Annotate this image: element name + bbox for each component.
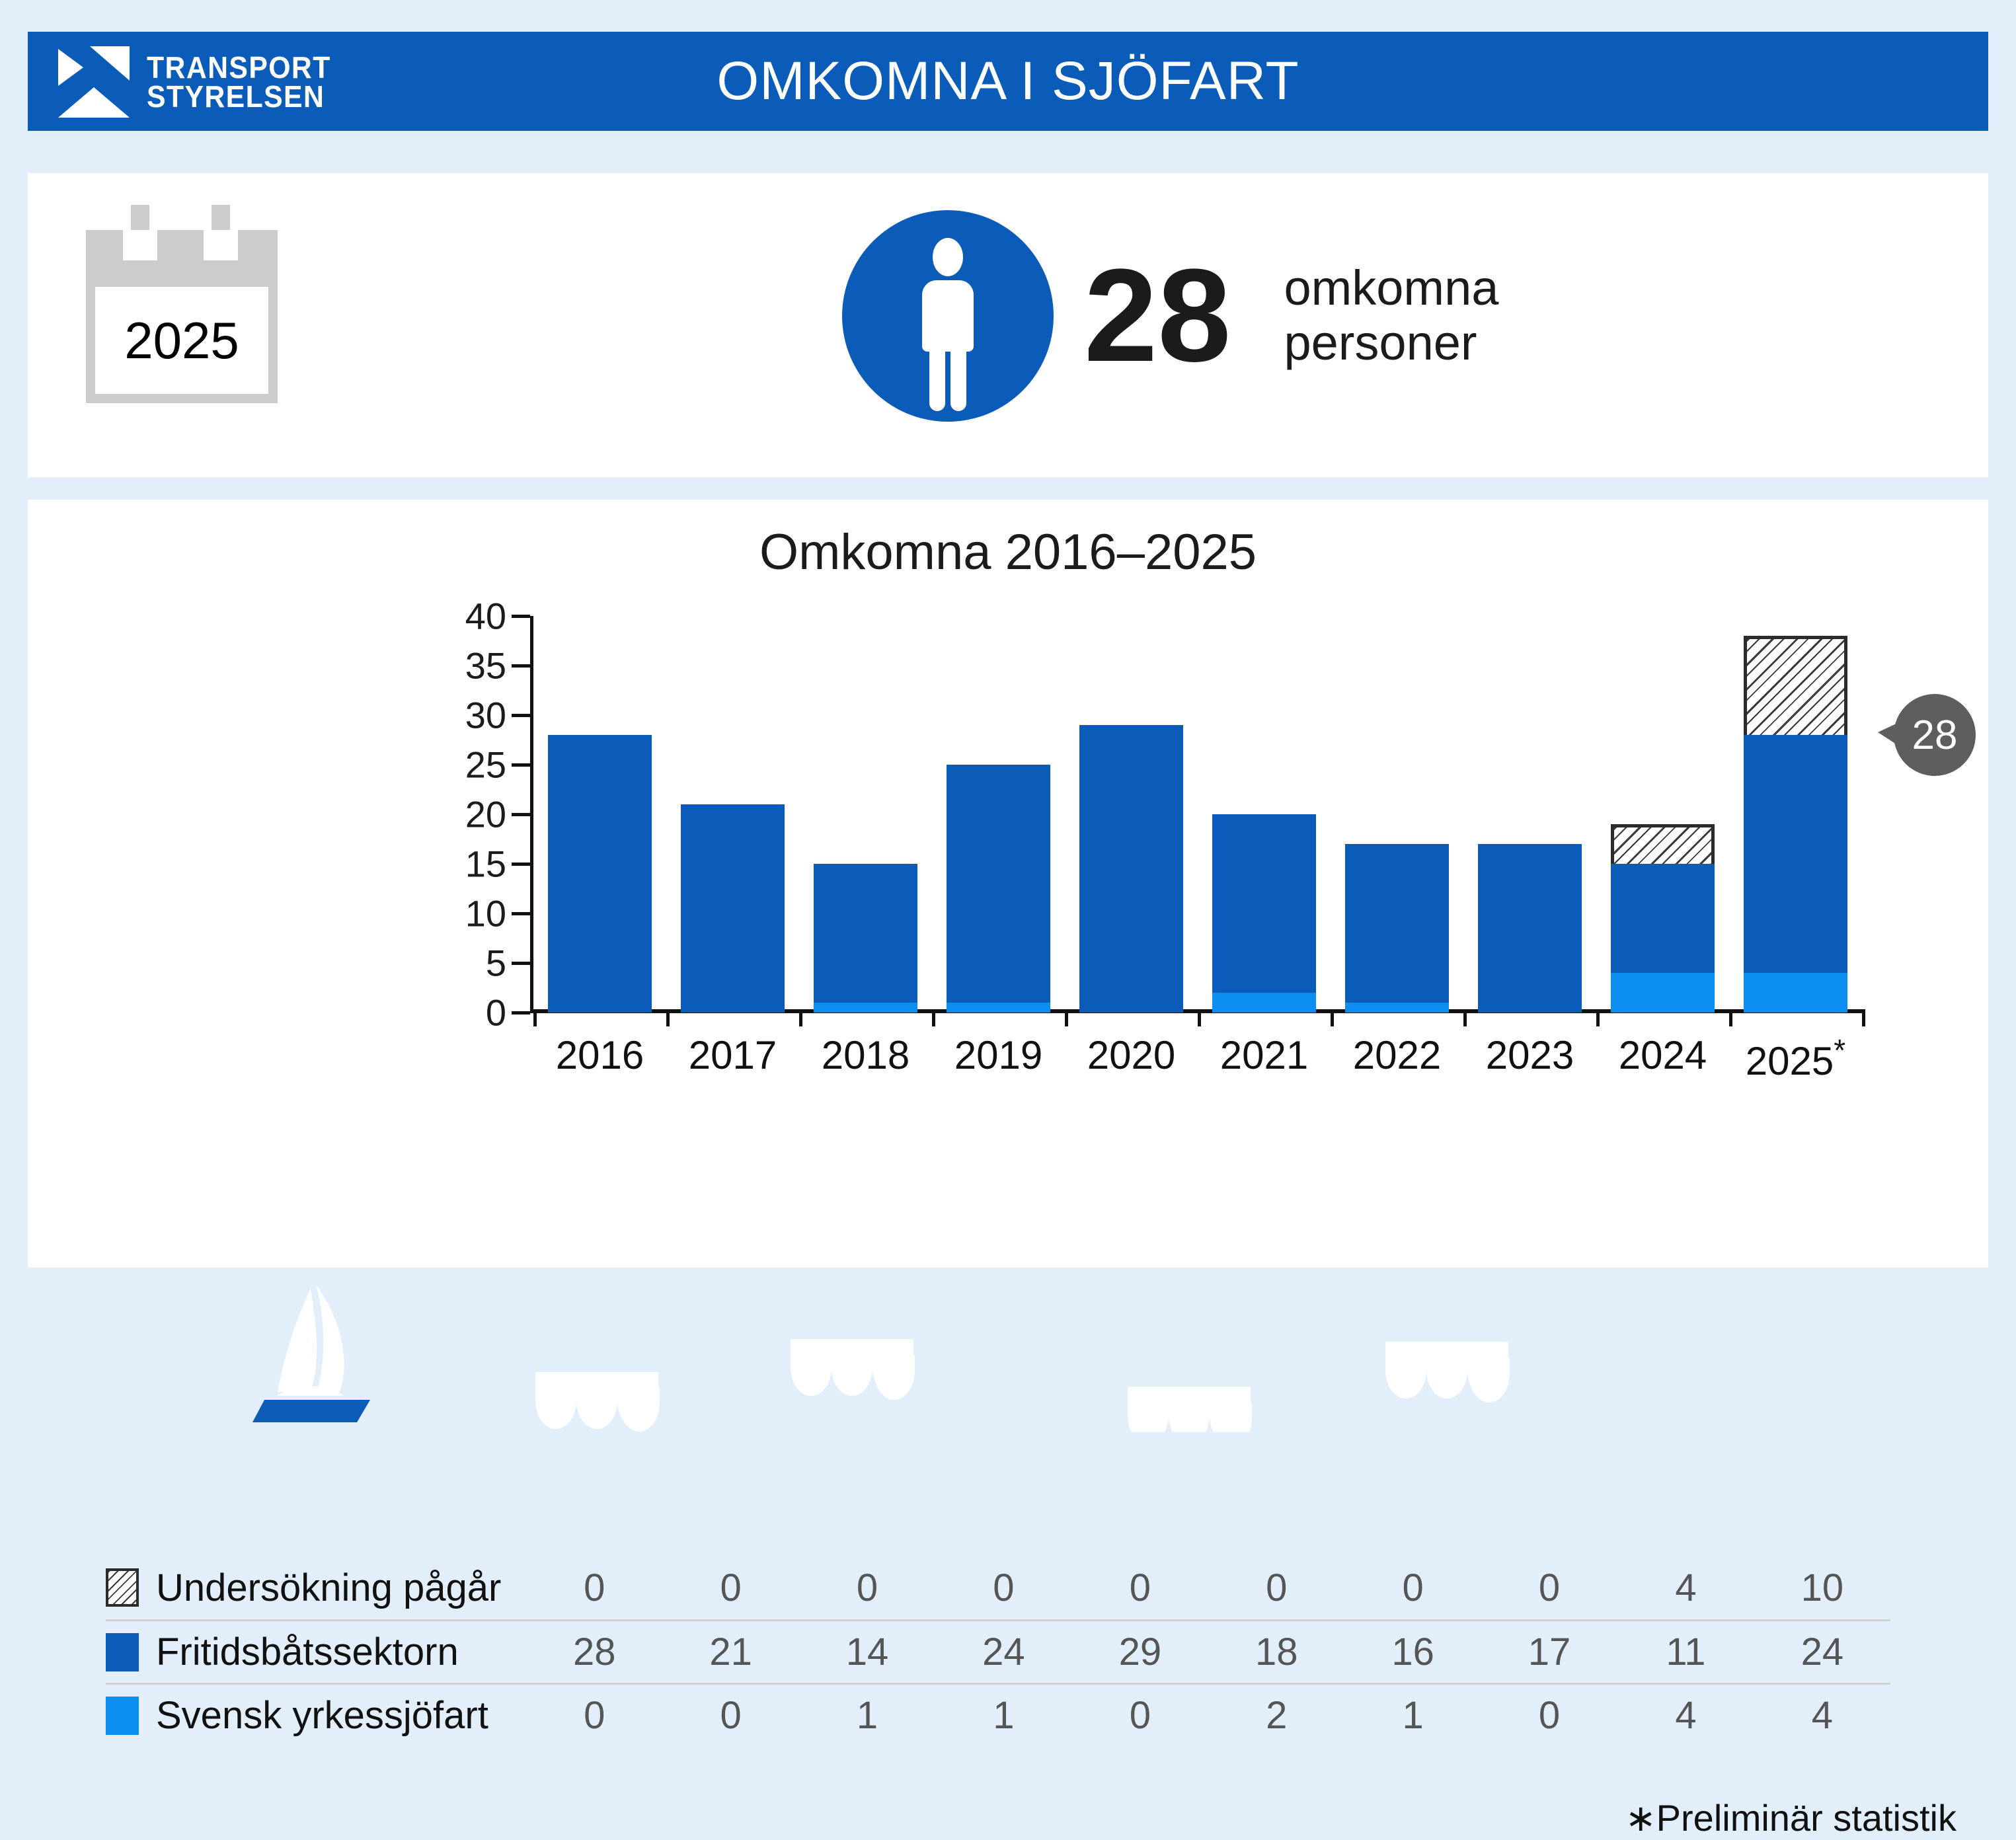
- chart-bar: [1744, 636, 1847, 1013]
- chart-title: Omkomna 2016–2025: [28, 523, 1988, 581]
- bar-segment-leisure-boat: [1611, 864, 1715, 973]
- legend-value-cell: 0: [662, 1693, 798, 1738]
- legend-value-cell: 0: [935, 1566, 1071, 1610]
- chart-bar: [548, 735, 652, 1013]
- person-icon: [842, 210, 1054, 422]
- chart-bar: [1611, 824, 1715, 1013]
- y-axis-tick-label: 35: [427, 644, 506, 687]
- bar-segment-professional: [1611, 973, 1715, 1013]
- bar-segment-investigation: [1744, 636, 1847, 735]
- x-axis-tick-label: 2023: [1486, 1032, 1574, 1078]
- legend-value-cells: 28211424291816171124: [526, 1630, 1890, 1674]
- chart-bar: [814, 864, 917, 1013]
- brand-wordmark: TRANSPORT STYRELSEN: [147, 53, 345, 111]
- chart-y-axis: 0510152025303540: [424, 616, 530, 1013]
- caption-line-2: personer: [1284, 316, 1498, 371]
- chart-panel: Omkomna 2016–2025 0510152025303540 20162…: [28, 500, 1988, 1268]
- legend-value-cell: 24: [1754, 1630, 1890, 1674]
- legend-value-cell: 0: [526, 1566, 662, 1610]
- bar-segment-professional: [1744, 973, 1847, 1013]
- bar-segment-leisure-boat: [1478, 844, 1582, 1013]
- y-axis-tick-mark: [512, 962, 530, 965]
- x-axis-tick-label: 2018: [822, 1032, 910, 1078]
- x-axis-tick-mark: [533, 1009, 537, 1026]
- x-axis-tick-label: 2017: [689, 1032, 777, 1078]
- y-axis-tick-mark: [512, 763, 530, 767]
- legend-label: Fritidsbåtssektorn: [156, 1630, 526, 1674]
- chart-bar: [1478, 844, 1582, 1013]
- x-axis-tick-mark: [1862, 1009, 1865, 1026]
- legend-row: Fritidsbåtssektorn28211424291816171124: [106, 1619, 1890, 1683]
- legend-value-cell: 4: [1617, 1693, 1754, 1738]
- x-axis-tick-mark: [1065, 1009, 1068, 1026]
- x-axis-tick-label: 2021: [1220, 1032, 1308, 1078]
- legend-value-cell: 0: [1344, 1566, 1481, 1610]
- summary-panel: 2025 28 omkomna personer: [28, 173, 1988, 477]
- chart-plot-area: [533, 616, 1862, 1013]
- calendar-icon: 2025: [86, 205, 278, 403]
- legend-value-cells: 00000000410: [526, 1566, 1890, 1610]
- bar-segment-leisure-boat: [548, 735, 652, 1013]
- y-axis-tick-label: 25: [427, 744, 506, 786]
- transportstyrelsen-arrow-mark-icon: [56, 44, 132, 120]
- logo-line-2: STYRELSEN: [147, 82, 331, 111]
- y-axis-tick-mark: [512, 813, 530, 816]
- legend-value-cell: 0: [1481, 1693, 1617, 1738]
- legend-label: Undersökning pågår: [156, 1566, 526, 1610]
- page-header: TRANSPORT STYRELSEN OMKOMNA I SJÖFART: [28, 32, 1988, 131]
- legend-value-cell: 0: [526, 1693, 662, 1738]
- calendar-face: 2025: [95, 287, 268, 394]
- x-axis-tick-label: 2022: [1353, 1032, 1441, 1078]
- y-axis-tick-mark: [512, 912, 530, 915]
- bar-segment-leisure-boat: [947, 765, 1050, 1003]
- bar-segment-professional: [947, 1003, 1050, 1013]
- legend-value-cell: 1: [935, 1693, 1071, 1738]
- calendar-year-label: 2025: [124, 311, 239, 371]
- chart-bar: [1212, 814, 1316, 1013]
- y-axis-tick-label: 40: [427, 595, 506, 638]
- legend-value-cells: 0011021044: [526, 1693, 1890, 1738]
- bar-segment-leisure-boat: [1079, 725, 1183, 1013]
- legend-value-cell: 18: [1208, 1630, 1344, 1674]
- legend-value-cell: 17: [1481, 1630, 1617, 1674]
- chart-bar: [947, 765, 1050, 1013]
- fatalities-caption: omkomna personer: [1284, 261, 1498, 371]
- bar-segment-investigation: [1611, 824, 1715, 864]
- legend-row: Undersökning pågår00000000410: [106, 1556, 1890, 1619]
- caption-line-1: omkomna: [1284, 261, 1498, 316]
- brand-logo: TRANSPORT STYRELSEN: [56, 44, 345, 120]
- x-axis-tick-mark: [1596, 1009, 1600, 1026]
- dark-blue-swatch-icon: [106, 1633, 139, 1671]
- legend-value-cell: 0: [662, 1566, 798, 1610]
- y-axis-tick-label: 5: [427, 942, 506, 985]
- person-leg-right: [950, 340, 966, 411]
- legend-value-cell: 14: [799, 1630, 935, 1674]
- legend-value-cell: 1: [1344, 1693, 1481, 1738]
- x-axis-tick-mark: [1331, 1009, 1334, 1026]
- legend-value-cell: 2: [1208, 1693, 1344, 1738]
- light-blue-swatch-icon: [106, 1697, 139, 1735]
- y-axis-tick-label: 10: [427, 892, 506, 935]
- x-axis-tick-mark: [1198, 1009, 1201, 1026]
- decorative-footer: [0, 1276, 2016, 1432]
- calendar-notch-left: [123, 230, 157, 260]
- y-axis-tick-label: 15: [427, 843, 506, 886]
- hatch-swatch-icon: [106, 1568, 139, 1607]
- bar-segment-professional: [1212, 993, 1316, 1013]
- x-axis-tick-label: 2019: [954, 1032, 1042, 1078]
- x-axis-tick-mark: [799, 1009, 802, 1026]
- x-axis-tick-label: 2025*: [1746, 1032, 1845, 1084]
- x-axis-tick-mark: [1463, 1009, 1467, 1026]
- legend-value-cell: 11: [1617, 1630, 1754, 1674]
- fatalities-count: 28: [1084, 255, 1231, 377]
- legend-value-cell: 16: [1344, 1630, 1481, 1674]
- y-axis-tick-mark: [512, 714, 530, 717]
- bar-segment-leisure-boat: [1744, 735, 1847, 973]
- legend-value-cell: 0: [1208, 1566, 1344, 1610]
- calendar-body: 2025: [86, 230, 278, 403]
- y-axis-tick-label: 20: [427, 793, 506, 836]
- bar-segment-leisure-boat: [1345, 844, 1449, 1003]
- y-axis-tick-mark: [512, 664, 530, 668]
- sailboat-icon: [252, 1285, 370, 1422]
- x-axis-tick-mark: [932, 1009, 935, 1026]
- person-leg-left: [929, 340, 945, 411]
- bar-segment-leisure-boat: [1212, 814, 1316, 993]
- y-axis-tick-label: 30: [427, 694, 506, 737]
- bar-segment-professional: [1345, 1003, 1449, 1013]
- x-axis-tick-label: 2024: [1619, 1032, 1707, 1078]
- legend-value-cell: 0: [1481, 1566, 1617, 1610]
- chart-bar: [1079, 725, 1183, 1013]
- chart-bar: [681, 804, 785, 1013]
- chart-bar: [1345, 844, 1449, 1013]
- y-axis-tick-mark: [512, 862, 530, 866]
- y-axis-tick-mark: [512, 615, 530, 618]
- logo-line-1: TRANSPORT: [147, 53, 331, 82]
- legend-value-cell: 4: [1617, 1566, 1754, 1610]
- x-axis-tick-mark: [666, 1009, 670, 1026]
- legend-value-table: Undersökning pågår00000000410Fritidsbåts…: [106, 1556, 1890, 1746]
- legend-value-cell: 21: [662, 1630, 798, 1674]
- legend-row: Svensk yrkessjöfart0011021044: [106, 1683, 1890, 1746]
- legend-label: Svensk yrkessjöfart: [156, 1693, 526, 1738]
- fatalities-summary: 28 omkomna personer: [842, 210, 1498, 422]
- person-head: [933, 238, 963, 276]
- legend-value-cell: 24: [935, 1630, 1071, 1674]
- legend-value-cell: 0: [1072, 1566, 1208, 1610]
- x-axis-tick-label: 2020: [1087, 1032, 1175, 1078]
- calendar-notch-right: [204, 230, 238, 260]
- y-axis-tick-label: 0: [427, 991, 506, 1034]
- legend-value-cell: 1: [799, 1693, 935, 1738]
- legend-value-cell: 28: [526, 1630, 662, 1674]
- legend-value-cell: 4: [1754, 1693, 1890, 1738]
- x-axis-tick-label: 2016: [556, 1032, 644, 1078]
- legend-value-cell: 29: [1072, 1630, 1208, 1674]
- x-axis-tick-mark: [1729, 1009, 1732, 1026]
- legend-value-cell: 0: [799, 1566, 935, 1610]
- footnote: ∗Preliminär statistik: [1625, 1796, 1957, 1840]
- bar-segment-leisure-boat: [814, 864, 917, 1003]
- wave-icon: [535, 1339, 1510, 1432]
- legend-value-cell: 0: [1072, 1693, 1208, 1738]
- bar-segment-leisure-boat: [681, 804, 785, 1013]
- y-axis-tick-mark: [512, 1011, 530, 1015]
- chart-callout-bubble: 28: [1894, 694, 1976, 776]
- legend-value-cell: 10: [1754, 1566, 1890, 1610]
- bar-segment-professional: [814, 1003, 917, 1013]
